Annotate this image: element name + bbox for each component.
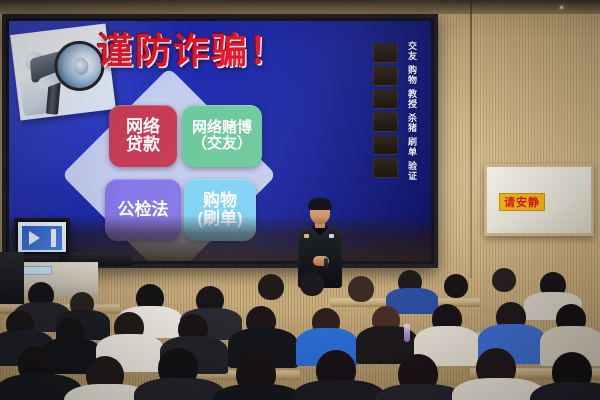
card-gamble-line2: （交友）	[192, 136, 252, 152]
side-label-pig-butchering: 杀猪	[406, 113, 419, 133]
slide-title: 谨防诈骗！	[97, 33, 287, 69]
card-shopping-line1: 购物	[203, 192, 237, 210]
card-loan-line1: 网络	[126, 118, 160, 136]
play-triangle-icon	[29, 231, 40, 245]
concept-card-gambling[interactable]: 网络赌博 （交友）	[182, 105, 262, 167]
presenter-hair	[308, 198, 332, 210]
monitor-bar-icon	[51, 229, 56, 247]
audience	[0, 268, 600, 400]
slide-surface: 谨防诈骗！ 网络 贷款 网络赌博 （交友） 公检法 购物 (刷单)	[9, 21, 431, 261]
audience-shoulders	[530, 382, 600, 400]
slide-thumbnail[interactable]	[373, 158, 398, 178]
ceiling-light	[560, 6, 563, 9]
side-label-shopping: 购物	[406, 65, 419, 85]
side-label-professor: 教授	[406, 89, 419, 109]
audience-head	[492, 268, 516, 292]
lecture-hall-photo: 谨防诈骗！ 网络 贷款 网络赌博 （交友） 公检法 购物 (刷单)	[0, 0, 600, 400]
concept-card-loan[interactable]: 网络 贷款	[109, 105, 177, 167]
audience-shoulders	[292, 380, 386, 400]
water-bottle	[404, 324, 410, 342]
audience-head	[444, 274, 468, 298]
presenter-insignia-icon	[329, 234, 334, 238]
slide-thumbnail[interactable]	[373, 89, 398, 109]
presenter-monitor[interactable]	[14, 218, 70, 256]
audience-shoulders	[212, 384, 304, 400]
side-label-friend: 交友	[406, 41, 419, 61]
audience-head	[258, 274, 284, 300]
card-loan-line2: 贷款	[126, 136, 160, 154]
ceiling-band	[0, 0, 600, 14]
audience-head	[348, 276, 374, 302]
presenter-monitor-screen	[18, 222, 66, 252]
quiet-sign: 请安静	[499, 193, 545, 211]
presenter-badge-icon	[304, 234, 309, 238]
wall-seam	[470, 0, 472, 278]
slide-thumbnail[interactable]	[373, 66, 398, 86]
card-gamble-line1: 网络赌博	[192, 120, 252, 136]
monitor-slide-graphic	[22, 226, 62, 250]
slide-thumbnail[interactable]	[373, 135, 398, 155]
side-label-order-brushing: 刷单	[406, 137, 419, 157]
side-label-verification: 验证	[406, 161, 419, 181]
audience-head	[300, 272, 324, 296]
slide-thumbnail[interactable]	[373, 43, 398, 63]
slide-thumbnail[interactable]	[373, 112, 398, 132]
whiteboard: 请安静	[484, 164, 594, 236]
